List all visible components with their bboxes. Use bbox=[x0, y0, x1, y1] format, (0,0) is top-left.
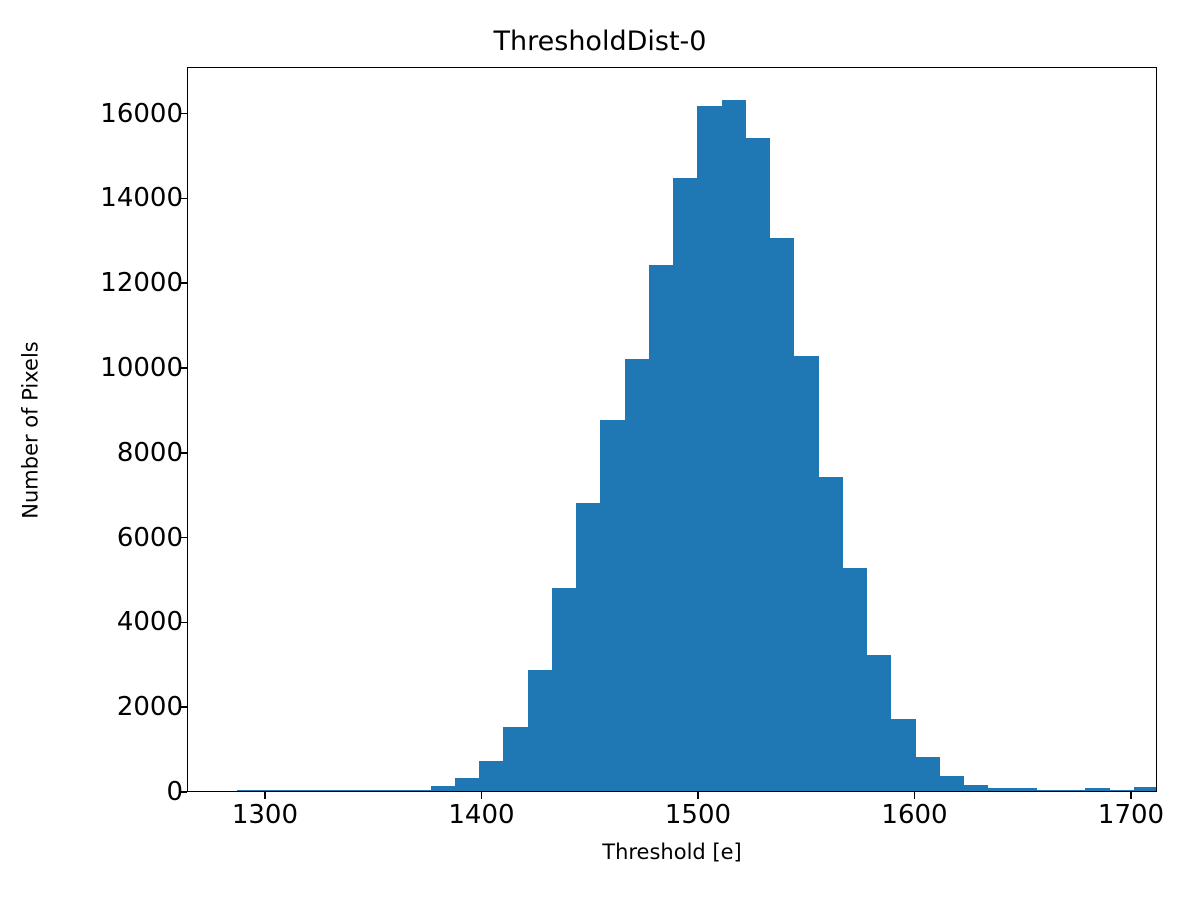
y-tick-label: 12000 bbox=[100, 270, 183, 296]
plot-area bbox=[187, 67, 1157, 792]
histogram-bar bbox=[1085, 788, 1109, 791]
histogram-bar bbox=[722, 100, 746, 791]
x-tick-label: 1500 bbox=[665, 800, 731, 830]
y-tick-label: 2000 bbox=[117, 694, 183, 720]
y-tick-label: 4000 bbox=[117, 609, 183, 635]
histogram-bar bbox=[940, 776, 964, 791]
x-tick-mark bbox=[697, 792, 699, 799]
histogram-bar bbox=[285, 790, 309, 791]
x-tick-mark bbox=[481, 792, 483, 799]
chart-title: ThresholdDist-0 bbox=[0, 26, 1200, 58]
x-axis-label: Threshold [e] bbox=[187, 840, 1157, 865]
histogram-bar bbox=[382, 790, 406, 791]
x-tick-label: 1400 bbox=[448, 800, 514, 830]
histogram-bar bbox=[964, 785, 988, 791]
histogram-bar bbox=[867, 655, 891, 791]
x-tick-label: 1300 bbox=[232, 800, 298, 830]
histogram-bar bbox=[1134, 787, 1157, 791]
histogram-bar bbox=[770, 238, 794, 791]
histogram-bar bbox=[843, 568, 867, 791]
x-tick-label: 1600 bbox=[881, 800, 947, 830]
y-tick-label: 10000 bbox=[100, 355, 183, 381]
x-tick-label: 1700 bbox=[1098, 800, 1164, 830]
histogram-bar bbox=[552, 588, 576, 792]
y-tick-label: 16000 bbox=[100, 101, 183, 127]
histogram-bar bbox=[1110, 790, 1134, 791]
histogram-bar bbox=[649, 265, 673, 791]
histogram-bar bbox=[746, 138, 770, 791]
histogram-bar bbox=[1037, 790, 1061, 791]
histogram-bar bbox=[431, 786, 455, 791]
x-tick-mark bbox=[1130, 792, 1132, 799]
histogram-bar bbox=[673, 178, 697, 791]
y-tick-label: 6000 bbox=[117, 525, 183, 551]
y-tick-label: 8000 bbox=[117, 440, 183, 466]
histogram-bar bbox=[479, 761, 503, 791]
histogram-bar bbox=[988, 788, 1012, 791]
histogram-bar bbox=[891, 719, 915, 791]
histogram-bar bbox=[1061, 790, 1085, 791]
histogram-bar bbox=[1013, 788, 1037, 791]
histogram-bar bbox=[261, 790, 285, 791]
histogram-bar bbox=[697, 106, 721, 791]
histogram-bar bbox=[794, 356, 818, 791]
y-tick-label: 14000 bbox=[100, 185, 183, 211]
histogram-bar bbox=[334, 790, 358, 791]
y-tick-label: 0 bbox=[166, 779, 183, 805]
histogram-bar bbox=[576, 503, 600, 791]
histogram-bar bbox=[600, 420, 624, 791]
x-tick-mark bbox=[264, 792, 266, 799]
histogram-bar bbox=[819, 477, 843, 791]
histogram-figure: ThresholdDist-0 020004000600080001000012… bbox=[0, 0, 1200, 900]
histogram-bar bbox=[455, 778, 479, 791]
histogram-bar bbox=[503, 727, 527, 791]
y-axis-label: Number of Pixels bbox=[16, 68, 46, 793]
histogram-bars bbox=[188, 68, 1156, 791]
histogram-bar bbox=[358, 790, 382, 791]
histogram-bar bbox=[309, 790, 333, 791]
histogram-bar bbox=[916, 757, 940, 791]
histogram-bar bbox=[406, 790, 430, 791]
histogram-bar bbox=[528, 670, 552, 791]
x-tick-mark bbox=[914, 792, 916, 799]
histogram-bar bbox=[237, 790, 261, 791]
histogram-bar bbox=[625, 359, 649, 791]
